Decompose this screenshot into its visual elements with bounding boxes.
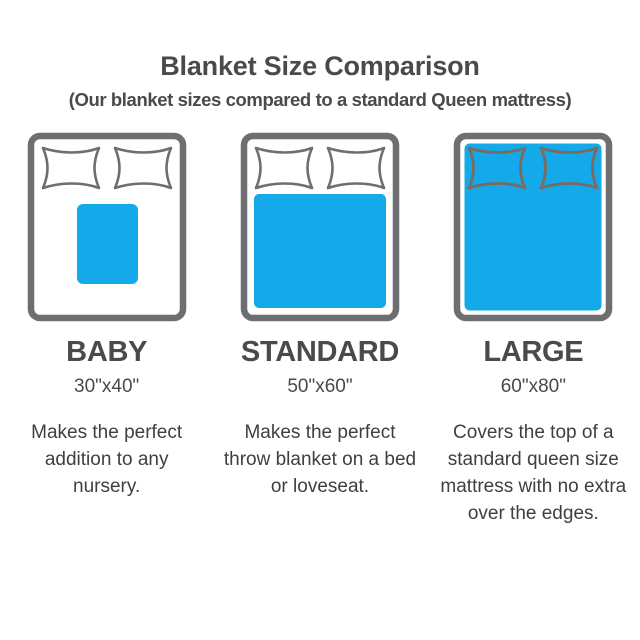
bed-diagram-baby: [27, 132, 187, 322]
bed-diagram-large: [453, 132, 613, 322]
size-column-baby: BABY 30"x40" Makes the perfect addition …: [0, 132, 213, 528]
blanket-standard: [254, 194, 386, 308]
size-column-standard: STANDARD 50"x60" Makes the perfect throw…: [213, 132, 426, 528]
page-title: Blanket Size Comparison: [0, 52, 640, 82]
bed-diagram-standard: [240, 132, 400, 322]
blanket-baby: [77, 204, 138, 284]
size-dimensions-standard: 50"x60": [287, 377, 352, 396]
page-subtitle: (Our blanket sizes compared to a standar…: [0, 90, 640, 110]
pillow-right-baby: [115, 148, 171, 188]
size-column-large: LARGE 60"x80" Covers the top of a standa…: [427, 132, 640, 528]
size-description-standard: Makes the perfect throw blanket on a bed…: [222, 420, 418, 501]
size-dimensions-large: 60"x80": [501, 377, 566, 396]
size-columns: BABY 30"x40" Makes the perfect addition …: [0, 132, 640, 528]
blanket-size-comparison-infographic: Blanket Size Comparison (Our blanket siz…: [0, 0, 640, 640]
pillow-right-standard: [328, 148, 384, 188]
header: Blanket Size Comparison (Our blanket siz…: [0, 0, 640, 110]
size-name-standard: STANDARD: [241, 338, 399, 367]
pillow-left-baby: [43, 148, 99, 188]
size-dimensions-baby: 30"x40": [74, 377, 139, 396]
pillow-left-standard: [256, 148, 312, 188]
blanket-large: [465, 144, 602, 311]
size-name-baby: BABY: [66, 338, 147, 367]
size-description-large: Covers the top of a standard queen size …: [435, 420, 631, 528]
size-description-baby: Makes the perfect addition to any nurser…: [9, 420, 205, 501]
size-name-large: LARGE: [483, 338, 583, 367]
